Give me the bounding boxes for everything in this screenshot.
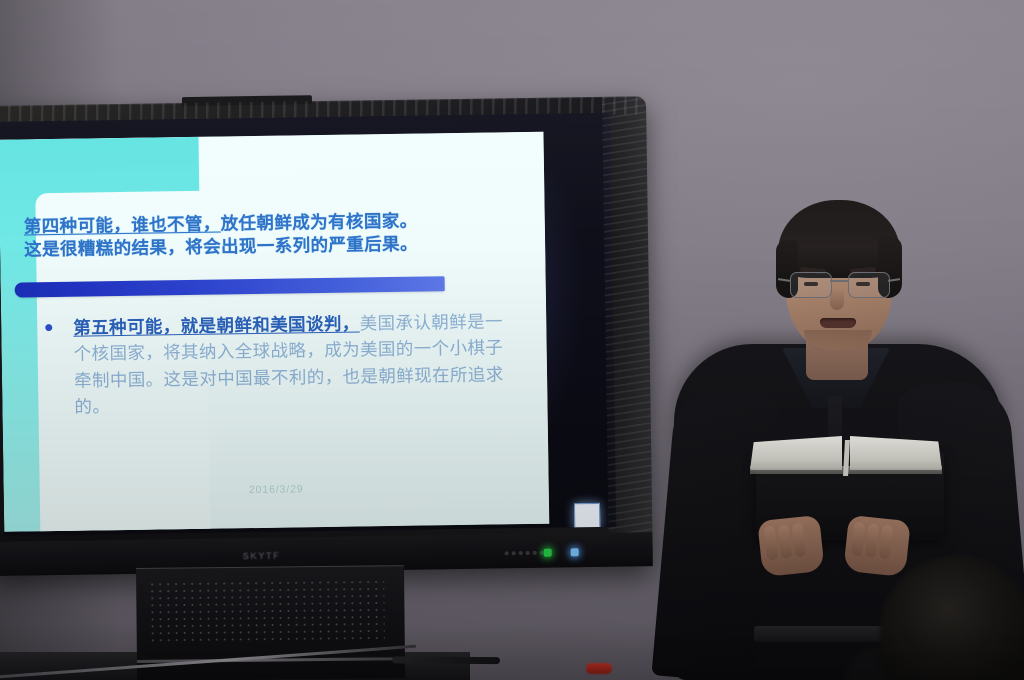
scene-vignette [0, 0, 1024, 680]
photo-scene: 第四种可能，谁也不管，放任朝鲜成为有核国家。 这是很糟糕的结果，将会出现一系列的… [0, 0, 1024, 680]
